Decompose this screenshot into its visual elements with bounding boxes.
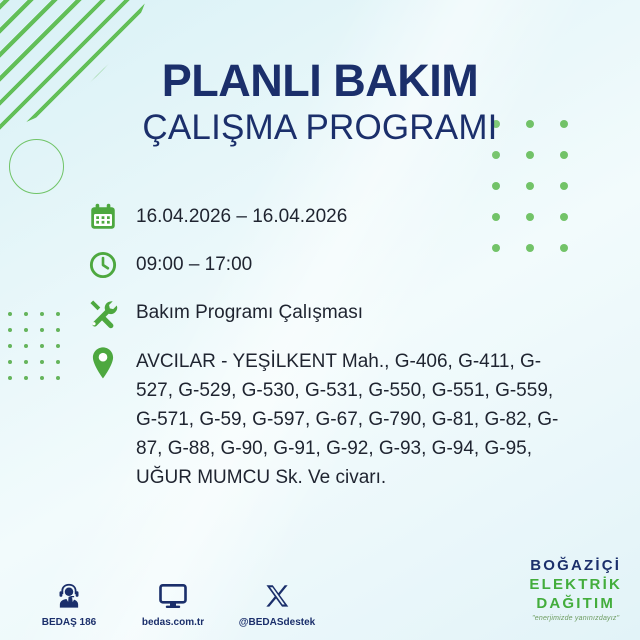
dot bbox=[8, 328, 12, 332]
tools-icon bbox=[86, 296, 120, 330]
detail-row-address: AVCILAR - YEŞİLKENT Mah., G-406, G-411, … bbox=[86, 344, 572, 492]
monitor-icon bbox=[157, 577, 189, 611]
logo-line-bogazici: BOĞAZİÇİ bbox=[529, 558, 622, 573]
contact-x-label: @BEDASdestek bbox=[239, 617, 315, 628]
contact-website-label: bedas.com.tr bbox=[142, 617, 204, 628]
x-twitter-icon bbox=[264, 577, 291, 611]
title-main: PLANLI BAKIM bbox=[0, 56, 640, 106]
logo-line-elektrik: ELEKTRİK bbox=[529, 577, 622, 592]
dot bbox=[56, 312, 60, 316]
dot bbox=[40, 376, 44, 380]
contact-x-account[interactable]: @BEDASdestek bbox=[238, 577, 316, 628]
dot bbox=[40, 360, 44, 364]
detail-time-text: 09:00 – 17:00 bbox=[136, 248, 252, 278]
location-pin-icon bbox=[86, 344, 120, 380]
planned-maintenance-poster: PLANLI BAKIM ÇALIŞMA PROGRAMI 16 bbox=[0, 0, 640, 640]
dot bbox=[8, 312, 12, 316]
dot bbox=[526, 151, 534, 159]
left-dot-grid-decoration bbox=[8, 312, 72, 392]
detail-row-date: 16.04.2026 – 16.04.2026 bbox=[86, 200, 572, 234]
dot bbox=[560, 151, 568, 159]
dot bbox=[24, 328, 28, 332]
detail-row-time: 09:00 – 17:00 bbox=[86, 248, 572, 282]
dot bbox=[24, 344, 28, 348]
bedas-logo: BOĞAZİÇİ ELEKTRİK DAĞITIM "enerjimizde y… bbox=[529, 558, 622, 622]
dot bbox=[56, 344, 60, 348]
dot bbox=[40, 328, 44, 332]
dot bbox=[526, 182, 534, 190]
dot bbox=[56, 376, 60, 380]
dot bbox=[24, 360, 28, 364]
calendar-icon bbox=[86, 200, 120, 234]
dot bbox=[56, 360, 60, 364]
contact-links: BEDAŞ 186 bedas.com.tr bbox=[30, 577, 316, 628]
contact-phone-label: BEDAŞ 186 bbox=[42, 617, 96, 628]
title-sub: ÇALIŞMA PROGRAMI bbox=[0, 107, 640, 149]
detail-row-worktype: Bakım Programı Çalışması bbox=[86, 296, 572, 330]
dot bbox=[24, 376, 28, 380]
maintenance-details: 16.04.2026 – 16.04.2026 09:00 – 17:00 bbox=[86, 200, 572, 492]
dot bbox=[492, 151, 500, 159]
clock-icon bbox=[86, 248, 120, 282]
detail-worktype-text: Bakım Programı Çalışması bbox=[136, 296, 363, 326]
contact-phone[interactable]: BEDAŞ 186 bbox=[30, 577, 108, 628]
dot bbox=[40, 312, 44, 316]
dot bbox=[560, 182, 568, 190]
detail-date-text: 16.04.2026 – 16.04.2026 bbox=[136, 200, 347, 230]
dot bbox=[8, 376, 12, 380]
detail-address-text: AVCILAR - YEŞİLKENT Mah., G-406, G-411, … bbox=[136, 344, 572, 492]
logo-tagline: "enerjimizde yanınızdayız" bbox=[529, 615, 622, 622]
dot bbox=[24, 312, 28, 316]
support-agent-icon bbox=[54, 577, 84, 611]
footer: BEDAŞ 186 bedas.com.tr bbox=[0, 554, 640, 640]
dot bbox=[8, 360, 12, 364]
dot bbox=[8, 344, 12, 348]
contact-website[interactable]: bedas.com.tr bbox=[134, 577, 212, 628]
logo-line-dagitim: DAĞITIM bbox=[529, 596, 622, 611]
dot bbox=[492, 182, 500, 190]
page-title: PLANLI BAKIM ÇALIŞMA PROGRAMI bbox=[0, 56, 640, 149]
dot bbox=[56, 328, 60, 332]
dot bbox=[40, 344, 44, 348]
